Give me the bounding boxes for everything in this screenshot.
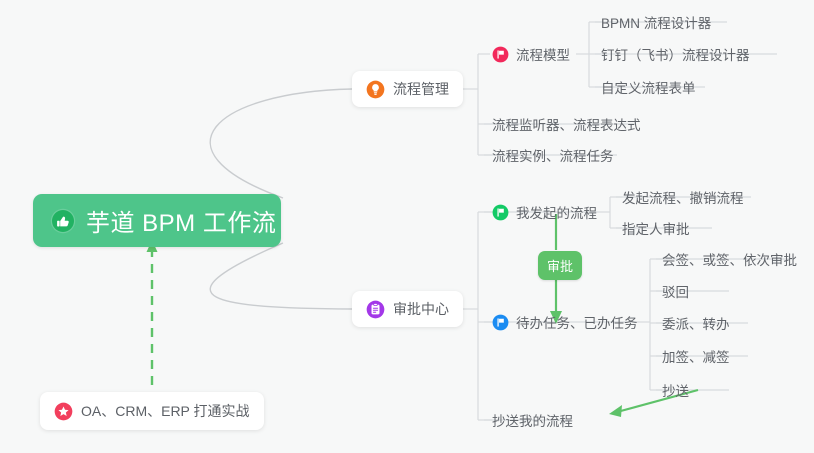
leaf-dingtalk-feishu-designer[interactable]: 钉钉（飞书）流程设计器 [601,41,750,67]
leaf-cc-label: 抄送 [662,380,689,400]
leaf-assignee-approval[interactable]: 指定人审批 [622,215,690,241]
branch-process-management-label: 流程管理 [393,79,449,99]
node-cc-to-me[interactable]: 抄送我的流程 [492,407,573,433]
approval-badge-label: 审批 [547,256,573,275]
leaf-custom-process-form[interactable]: 自定义流程表单 [601,74,696,100]
leaf-custom-process-form-label: 自定义流程表单 [601,77,696,97]
leaf-dingtalk-feishu-designer-label: 钉钉（飞书）流程设计器 [601,44,750,64]
node-process-model[interactable]: 流程模型 [492,41,570,67]
root-label: 芋道 BPM 工作流 [86,203,276,238]
leaf-reject[interactable]: 驳回 [662,278,689,304]
clipboard-icon [366,300,385,319]
node-todo-done-label: 待办任务、已办任务 [516,312,638,332]
flag-blue-icon [492,314,509,331]
node-todo-done[interactable]: 待办任务、已办任务 [492,309,638,335]
branch-process-management[interactable]: 流程管理 [352,71,463,107]
leaf-countersign-label: 会签、或签、依次审批 [662,249,797,269]
flag-green-icon [492,204,509,221]
node-instance-task-label: 流程实例、流程任务 [492,145,614,165]
leaf-countersign[interactable]: 会签、或签、依次审批 [662,246,797,272]
leaf-delegate-transfer[interactable]: 委派、转办 [662,310,730,336]
bottom-note-card[interactable]: OA、CRM、ERP 打通实战 [40,392,264,430]
leaf-assignee-approval-label: 指定人审批 [622,218,690,238]
branch-approval-center-label: 审批中心 [393,299,449,319]
leaf-bpmn-designer[interactable]: BPMN 流程设计器 [601,9,711,35]
node-listener-expression-label: 流程监听器、流程表达式 [492,114,641,134]
leaf-reject-label: 驳回 [662,281,689,301]
node-instance-task[interactable]: 流程实例、流程任务 [492,142,614,168]
leaf-delegate-transfer-label: 委派、转办 [662,313,730,333]
bottom-note-label: OA、CRM、ERP 打通实战 [81,401,250,421]
root-node[interactable]: 芋道 BPM 工作流 [33,194,281,247]
leaf-start-cancel[interactable]: 发起流程、撤销流程 [622,184,744,210]
node-listener-expression[interactable]: 流程监听器、流程表达式 [492,111,641,137]
leaf-bpmn-designer-label: BPMN 流程设计器 [601,12,711,32]
wire-root-to-approval-center [210,243,352,309]
node-process-model-label: 流程模型 [516,44,570,64]
leaf-start-cancel-label: 发起流程、撤销流程 [622,187,744,207]
approval-badge: 审批 [538,251,582,280]
node-my-initiated[interactable]: 我发起的流程 [492,199,597,225]
leaf-add-remove-sign[interactable]: 加签、减签 [662,343,730,369]
lightbulb-icon [366,80,385,99]
leaf-add-remove-sign-label: 加签、减签 [662,346,730,366]
node-my-initiated-label: 我发起的流程 [516,202,597,222]
arrowhead-cc-left [609,405,622,417]
flag-red-icon [492,46,509,63]
leaf-cc[interactable]: 抄送 [662,377,689,403]
node-cc-to-me-label: 抄送我的流程 [492,410,573,430]
star-icon [54,402,73,421]
thumbs-up-icon [50,208,76,234]
branch-approval-center[interactable]: 审批中心 [352,291,463,327]
wire-root-to-process-management [210,89,352,198]
mindmap-canvas: 芋道 BPM 工作流 流程管理 流程模型 BPMN 流程设计器 钉钉（飞书）流程 [0,0,814,453]
